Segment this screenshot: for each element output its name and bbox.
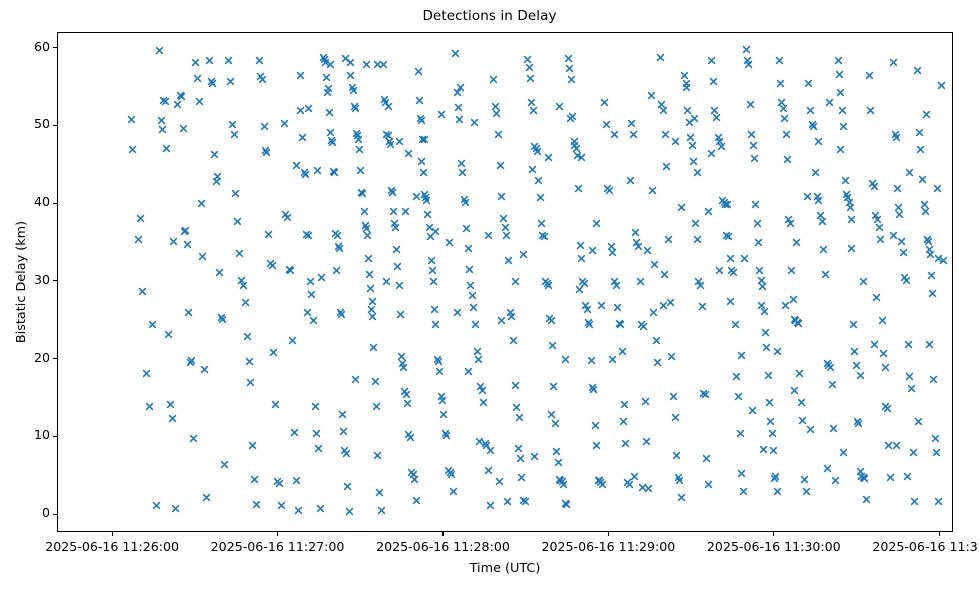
scatter-point — [264, 230, 273, 239]
scatter-point — [171, 504, 180, 513]
scatter-point — [145, 402, 154, 411]
scatter-point — [859, 277, 868, 286]
scatter-point — [339, 427, 348, 436]
scatter-point — [529, 106, 538, 115]
scatter-point — [615, 319, 624, 328]
scatter-point — [790, 386, 799, 395]
scatter-point — [255, 56, 264, 65]
scatter-point — [357, 188, 366, 197]
scatter-point — [316, 504, 325, 513]
scatter-point — [389, 207, 398, 216]
scatter-point — [142, 369, 151, 378]
scatter-point — [159, 96, 168, 105]
scatter-point — [409, 470, 418, 479]
scatter-point — [183, 240, 192, 249]
scatter-point — [534, 176, 543, 185]
scatter-point — [336, 308, 345, 317]
scatter-point — [532, 144, 541, 153]
scatter-point — [831, 476, 840, 485]
scatter-point — [250, 475, 259, 484]
scatter-point — [358, 189, 367, 198]
y-tick-label: 20 — [34, 352, 50, 364]
scatter-point — [838, 106, 847, 115]
scatter-point — [200, 365, 209, 374]
scatter-point — [932, 448, 941, 457]
scatter-point — [437, 110, 446, 119]
scatter-point — [566, 114, 575, 123]
scatter-point — [371, 377, 380, 386]
scatter-point — [905, 372, 914, 381]
scatter-point — [215, 268, 224, 277]
scatter-point — [399, 363, 408, 372]
scatter-point — [258, 75, 267, 84]
scatter-point — [616, 320, 625, 329]
scatter-point — [759, 445, 768, 454]
scatter-point — [806, 106, 815, 115]
scatter-point — [729, 268, 738, 277]
scatter-point — [580, 279, 589, 288]
scatter-point — [233, 217, 242, 226]
scatter-point — [850, 347, 859, 356]
scatter-point — [558, 477, 567, 486]
scatter-point — [364, 254, 373, 263]
scatter-point — [587, 356, 596, 365]
scatter-point — [337, 310, 346, 319]
scatter-point — [755, 266, 764, 275]
scatter-point — [603, 184, 612, 193]
scatter-point — [835, 70, 844, 79]
scatter-point — [457, 159, 466, 168]
scatter-point — [769, 446, 778, 455]
scatter-point — [920, 200, 929, 209]
scatter-point — [248, 441, 257, 450]
scatter-point — [390, 219, 399, 228]
scatter-point — [256, 72, 265, 81]
y-tick-label: 30 — [34, 274, 50, 286]
scatter-point — [718, 196, 727, 205]
scatter-point — [435, 367, 444, 376]
scatter-point — [926, 250, 935, 259]
scatter-point — [715, 266, 724, 275]
scatter-point — [554, 458, 563, 467]
scatter-point — [608, 248, 617, 257]
scatter-point — [868, 179, 877, 188]
scatter-point — [277, 501, 286, 510]
scatter-point — [789, 295, 798, 304]
scatter-point — [826, 363, 835, 372]
matplotlib-figure: Detections in Delay 0102030405060 2025-0… — [0, 0, 979, 590]
scatter-point — [438, 396, 447, 405]
scatter-point — [671, 413, 680, 422]
scatter-point — [469, 303, 478, 312]
scatter-point — [365, 270, 374, 279]
scatter-point — [462, 224, 471, 233]
scatter-point — [479, 398, 488, 407]
scatter-point — [916, 145, 925, 154]
scatter-point — [685, 118, 694, 127]
scatter-point — [285, 265, 294, 274]
scatter-point — [669, 392, 678, 401]
scatter-point — [878, 316, 887, 325]
scatter-point — [536, 193, 545, 202]
scatter-point — [499, 214, 508, 223]
scatter-point — [895, 210, 904, 219]
scatter-point — [134, 235, 143, 244]
scatter-point — [802, 487, 811, 496]
scatter-point — [653, 358, 662, 367]
scatter-point — [894, 203, 903, 212]
scatter-point — [415, 96, 424, 105]
scatter-point — [519, 250, 528, 259]
scatter-point — [420, 135, 429, 144]
scatter-point — [773, 347, 782, 356]
scatter-point — [343, 482, 352, 491]
scatter-point — [283, 213, 292, 222]
scatter-point — [351, 104, 360, 113]
scatter-point — [407, 468, 416, 477]
x-tick-mark — [608, 532, 609, 536]
scatter-point — [862, 495, 871, 504]
y-tick-mark — [53, 514, 57, 515]
scatter-point — [667, 352, 676, 361]
scatter-point — [386, 140, 395, 149]
scatter-point — [482, 441, 491, 450]
scatter-point — [823, 464, 832, 473]
scatter-point — [682, 83, 691, 92]
scatter-point — [607, 242, 616, 251]
scatter-point — [373, 451, 382, 460]
scatter-point — [870, 340, 879, 349]
scatter-point — [613, 303, 622, 312]
scatter-point — [889, 231, 898, 240]
scatter-point — [271, 400, 280, 409]
scatter-point — [294, 506, 303, 515]
scatter-point — [478, 386, 487, 395]
scatter-point — [392, 245, 401, 254]
scatter-point — [346, 58, 355, 67]
scatter-point — [468, 291, 477, 300]
scatter-point — [724, 232, 733, 241]
scatter-point — [856, 467, 865, 476]
scatter-point — [777, 98, 786, 107]
scatter-point — [486, 501, 495, 510]
scatter-point — [406, 433, 415, 442]
scatter-point — [845, 198, 854, 207]
scatter-point — [530, 142, 539, 151]
scatter-point — [547, 316, 556, 325]
scatter-point — [768, 429, 777, 438]
x-tick-mark — [442, 532, 443, 536]
scatter-point — [437, 392, 446, 401]
scatter-point — [417, 116, 426, 125]
x-tick-label: 2025-06-16 11:27:00 — [211, 539, 345, 554]
scatter-point — [530, 452, 539, 461]
scatter-point — [273, 477, 282, 486]
scatter-point — [476, 382, 485, 391]
scatter-point — [786, 219, 795, 228]
scatter-point — [334, 242, 343, 251]
scatter-point — [382, 130, 391, 139]
scatter-point — [230, 130, 239, 139]
scatter-point — [492, 109, 501, 118]
scatter-point — [570, 141, 579, 150]
scatter-point — [883, 404, 892, 413]
scatter-point — [453, 308, 462, 317]
scatter-point — [809, 122, 818, 131]
scatter-point — [790, 315, 799, 324]
scatter-point — [317, 273, 326, 282]
scatter-point — [335, 244, 344, 253]
scatter-point — [742, 45, 751, 54]
scatter-point — [704, 207, 713, 216]
scatter-point — [650, 260, 659, 269]
scatter-point — [403, 399, 412, 408]
scatter-point — [549, 382, 558, 391]
scatter-point — [627, 119, 636, 128]
scatter-point — [623, 478, 632, 487]
scatter-point — [746, 100, 755, 109]
scatter-point — [400, 387, 409, 396]
scatter-point — [422, 196, 431, 205]
scatter-point — [583, 305, 592, 314]
scatter-point — [375, 488, 384, 497]
scatter-point — [594, 476, 603, 485]
y-tick-mark — [53, 203, 57, 204]
scatter-point — [751, 200, 760, 209]
scatter-point — [597, 301, 606, 310]
scatter-point — [197, 199, 206, 208]
scatter-point — [629, 130, 638, 139]
scatter-point — [726, 254, 735, 263]
scatter-point — [666, 298, 675, 307]
scatter-point — [696, 281, 705, 290]
scatter-point — [657, 100, 666, 109]
scatter-point — [210, 150, 219, 159]
scatter-point — [857, 472, 866, 481]
scatter-point — [431, 227, 440, 236]
scatter-point — [426, 232, 435, 241]
scatter-point — [356, 166, 365, 175]
y-tick-label: 60 — [34, 41, 50, 53]
scatter-point — [914, 417, 923, 426]
scatter-point — [707, 56, 716, 65]
scatter-point — [647, 91, 656, 100]
scatter-point — [618, 347, 627, 356]
scatter-point — [157, 116, 166, 125]
scatter-point — [825, 98, 834, 107]
scatter-point — [262, 148, 271, 157]
scatter-point — [421, 193, 430, 202]
scatter-point — [329, 167, 338, 176]
y-tick-label: 40 — [34, 196, 50, 208]
scatter-point — [412, 496, 421, 505]
scatter-point — [460, 195, 469, 204]
scatter-point — [748, 406, 757, 415]
scatter-point — [191, 58, 200, 67]
scatter-point — [884, 441, 893, 450]
scatter-point — [218, 315, 227, 324]
scatter-point — [934, 497, 943, 506]
scatter-point — [737, 351, 746, 360]
scatter-point — [555, 102, 564, 111]
scatter-point — [784, 215, 793, 224]
scatter-point — [433, 355, 442, 364]
scatter-point — [762, 343, 771, 352]
scatter-point — [641, 397, 650, 406]
scatter-point — [608, 355, 617, 364]
scatter-point — [417, 157, 426, 166]
scatter-point — [682, 79, 691, 88]
scatter-point — [783, 155, 792, 164]
scatter-point — [865, 71, 874, 80]
scatter-point — [791, 316, 800, 325]
scatter-point — [198, 252, 207, 261]
scatter-point — [509, 336, 518, 345]
scatter-point — [747, 130, 756, 139]
x-tick-mark — [773, 532, 774, 536]
scatter-point — [548, 341, 557, 350]
scatter-point — [442, 431, 451, 440]
scatter-point — [155, 46, 164, 55]
y-tick-label: 10 — [34, 429, 50, 441]
scatter-point — [330, 168, 339, 177]
scatter-point — [326, 60, 335, 69]
scatter-point — [366, 284, 375, 293]
scatter-point — [723, 200, 732, 209]
scatter-point — [497, 192, 506, 201]
scatter-point — [162, 144, 171, 153]
scatter-point — [934, 254, 943, 263]
scatter-point — [892, 441, 901, 450]
scatter-point — [811, 168, 820, 177]
scatter-point — [491, 102, 500, 111]
scatter-point — [202, 493, 211, 502]
scatter-point — [714, 133, 723, 142]
scatter-point — [712, 113, 721, 122]
scatter-point — [481, 439, 490, 448]
scatter-point — [348, 83, 357, 92]
scatter-point — [816, 211, 825, 220]
scatter-point — [780, 114, 789, 123]
scatter-point — [489, 75, 498, 84]
scatter-point — [341, 54, 350, 63]
scatter-point — [367, 305, 376, 314]
scatter-point — [419, 168, 428, 177]
scatter-point — [306, 277, 315, 286]
scatter-point — [551, 419, 560, 428]
scatter-point — [704, 480, 713, 489]
scatter-point — [208, 79, 217, 88]
scatter-point — [324, 84, 333, 93]
scatter-point — [456, 83, 465, 92]
plot-area — [57, 32, 953, 532]
scatter-point — [484, 466, 493, 475]
scatter-point — [591, 421, 600, 430]
scatter-point — [803, 192, 812, 201]
scatter-point — [764, 371, 773, 380]
scatter-point — [664, 235, 673, 244]
x-tick-mark — [112, 532, 113, 536]
scatter-point — [444, 466, 453, 475]
y-tick-label: 50 — [34, 118, 50, 130]
y-tick-label: 0 — [42, 507, 50, 519]
scatter-point — [543, 279, 552, 288]
scatter-point — [464, 244, 473, 253]
scatter-point — [808, 120, 817, 129]
scatter-point — [322, 73, 331, 82]
scatter-point — [441, 429, 450, 438]
scatter-point — [620, 400, 629, 409]
scatter-point — [720, 198, 729, 207]
scatter-point — [269, 348, 278, 357]
scatter-point — [843, 193, 852, 202]
scatter-point — [404, 430, 413, 439]
scatter-point — [717, 142, 726, 151]
scatter-point — [303, 308, 312, 317]
scatter-point — [502, 231, 511, 240]
scatter-point — [643, 246, 652, 255]
scatter-point — [525, 63, 534, 72]
scatter-point — [514, 444, 523, 453]
scatter-point — [634, 242, 643, 251]
scatter-point — [814, 137, 823, 146]
scatter-point — [804, 79, 813, 88]
scatter-point — [709, 77, 718, 86]
scatter-point — [428, 266, 437, 275]
scatter-point — [739, 487, 748, 496]
scatter-point — [180, 227, 189, 236]
scatter-point — [794, 319, 803, 328]
scatter-point — [659, 301, 668, 310]
scatter-point — [418, 135, 427, 144]
scatter-point — [792, 238, 801, 247]
scatter-point — [298, 133, 307, 142]
scatter-point — [429, 277, 438, 286]
scatter-point — [164, 330, 173, 339]
scatter-point — [189, 434, 198, 443]
scatter-point — [688, 141, 697, 150]
scatter-point — [382, 277, 391, 286]
scatter-point — [393, 262, 402, 271]
scatter-point — [631, 228, 640, 237]
scatter-point — [904, 340, 913, 349]
scatter-point — [749, 141, 758, 150]
scatter-point — [922, 110, 931, 119]
scatter-point — [648, 186, 657, 195]
scatter-point — [425, 223, 434, 232]
scatter-point — [698, 302, 707, 311]
scatter-point — [683, 106, 692, 115]
scatter-point — [349, 86, 358, 95]
scatter-point — [331, 229, 340, 238]
scatter-point — [268, 261, 277, 270]
scatter-point — [387, 186, 396, 195]
scatter-point — [466, 281, 475, 290]
scatter-point — [836, 145, 845, 154]
scatter-point — [674, 473, 683, 482]
scatter-point — [876, 235, 885, 244]
scatter-point — [881, 402, 890, 411]
scatter-point — [384, 131, 393, 140]
scatter-point — [516, 454, 525, 463]
scatter-point — [362, 224, 371, 233]
scatter-point — [501, 223, 510, 232]
scatter-point — [847, 215, 856, 224]
scatter-point — [292, 476, 301, 485]
scatter-point — [213, 172, 222, 181]
y-axis-label: Bistatic Delay (km) — [14, 32, 32, 532]
scatter-point — [925, 340, 934, 349]
